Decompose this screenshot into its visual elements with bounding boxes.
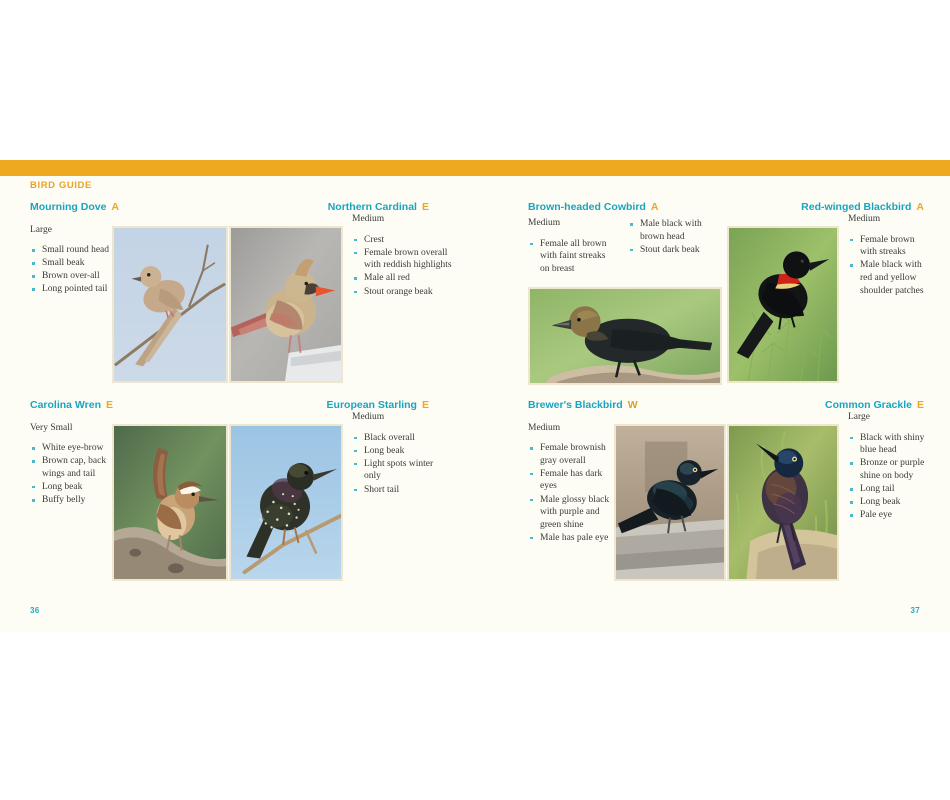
cowbird-text-col-1: Medium Female all brown with faint strea… xyxy=(528,218,616,276)
list-item: Long tail xyxy=(848,483,926,496)
list-item: Female brownish gray overall xyxy=(528,442,618,467)
trait-list-common-grackle: Black with shiny blue head Bronze or pur… xyxy=(848,432,926,522)
book-spread: BIRD GUIDE Mourning DoveA Large Small ro… xyxy=(0,160,950,632)
photo-european-starling xyxy=(229,424,343,581)
species-size: Medium xyxy=(528,218,616,230)
photo-northern-cardinal xyxy=(229,226,343,383)
list-item: Stout orange beak xyxy=(352,286,452,299)
cowbird-text-col-2: Male black with brown head Stout dark be… xyxy=(628,218,718,257)
species-heading-red-winged-blackbird: Red-winged BlackbirdA xyxy=(801,202,924,213)
list-item: Small round head xyxy=(30,244,110,257)
photo-mourning-dove xyxy=(112,226,228,383)
entry-brown-headed-cowbird[interactable]: Brown-headed CowbirdA Medium Female all … xyxy=(528,202,728,213)
trait-list-cowbird-col1: Female all brown with faint streaks on b… xyxy=(528,238,616,276)
entry-carolina-wren[interactable]: Carolina WrenE Very Small White eye-brow… xyxy=(30,400,110,507)
species-code: W xyxy=(628,399,638,411)
species-heading-common-grackle: Common GrackleE xyxy=(825,400,924,411)
page-number-right: 37 xyxy=(911,606,921,615)
species-name: European Starling xyxy=(327,399,417,411)
species-heading-carolina-wren: Carolina WrenE xyxy=(30,400,110,411)
photo-common-grackle xyxy=(727,424,839,581)
list-item: Stout dark beak xyxy=(628,244,718,257)
species-code: E xyxy=(106,399,113,411)
list-item: Female all brown with faint streaks on b… xyxy=(528,238,616,276)
list-item: Male has pale eye xyxy=(528,532,618,545)
species-name: Brewer's Blackbird xyxy=(528,399,623,411)
entry-red-winged-blackbird[interactable]: Red-winged BlackbirdA Medium Female brow… xyxy=(848,202,926,298)
photo-brown-headed-cowbird xyxy=(528,287,722,385)
trait-list-cowbird-col2: Male black with brown head Stout dark be… xyxy=(628,218,718,256)
list-item: Small beak xyxy=(30,257,110,270)
species-code: A xyxy=(111,201,119,213)
photo-red-winged-blackbird xyxy=(727,226,839,383)
list-item: Long pointed tail xyxy=(30,283,110,296)
trait-list-northern-cardinal: Crest Female brown overall with reddish … xyxy=(352,234,452,298)
list-item: Long beak xyxy=(848,496,926,509)
trait-list-european-starling: Black overall Long beak Light spots wint… xyxy=(352,432,452,496)
page-left: Mourning DoveA Large Small round head Sm… xyxy=(0,160,475,632)
list-item: Male black with brown head xyxy=(628,218,718,243)
species-size: Large xyxy=(848,412,926,424)
species-heading-brown-headed-cowbird: Brown-headed CowbirdA xyxy=(528,202,728,213)
species-code: E xyxy=(422,201,429,213)
entry-european-starling[interactable]: European StarlingE Medium Black overall … xyxy=(352,400,452,497)
species-name: Carolina Wren xyxy=(30,399,101,411)
species-name: Brown-headed Cowbird xyxy=(528,201,646,213)
list-item: Male glossy black with purple and green … xyxy=(528,494,618,532)
trait-list-mourning-dove: Small round head Small beak Brown over-a… xyxy=(30,244,110,296)
list-item: White eye-brow xyxy=(30,442,110,455)
entry-mourning-dove[interactable]: Mourning DoveA Large Small round head Sm… xyxy=(30,202,110,297)
list-item: Female brown with streaks xyxy=(848,234,926,259)
photo-brewers-blackbird xyxy=(614,424,726,581)
list-item: Long beak xyxy=(352,445,452,458)
list-item: Brown over-all xyxy=(30,270,110,283)
page-right: Brown-headed CowbirdA Medium Female all … xyxy=(475,160,950,632)
trait-list-brewers-blackbird: Female brownish gray overall Female has … xyxy=(528,442,618,544)
species-size: Medium xyxy=(352,412,452,424)
species-name: Common Grackle xyxy=(825,399,912,411)
trait-list-red-winged-blackbird: Female brown with streaks Male black wit… xyxy=(848,234,926,297)
list-item: Brown cap, back wings and tail xyxy=(30,455,110,480)
species-size: Medium xyxy=(528,423,618,435)
entry-brewers-blackbird[interactable]: Brewer's BlackbirdW Medium Female browni… xyxy=(528,400,618,545)
species-heading-mourning-dove: Mourning DoveA xyxy=(30,202,110,213)
list-item: Crest xyxy=(352,234,452,247)
list-item: Female has dark eyes xyxy=(528,468,618,493)
photo-carolina-wren xyxy=(112,424,228,581)
species-heading-northern-cardinal: Northern CardinalE xyxy=(328,202,429,213)
trait-list-carolina-wren: White eye-brow Brown cap, back wings and… xyxy=(30,442,110,506)
species-size: Very Small xyxy=(30,423,110,435)
list-item: Pale eye xyxy=(848,509,926,522)
page-number-left: 36 xyxy=(30,606,40,615)
species-code: E xyxy=(422,399,429,411)
list-item: Bronze or purple shine on body xyxy=(848,457,926,482)
species-name: Mourning Dove xyxy=(30,201,106,213)
species-code: A xyxy=(651,201,659,213)
species-heading-brewers-blackbird: Brewer's BlackbirdW xyxy=(528,400,618,411)
list-item: Light spots winter only xyxy=(352,458,452,483)
list-item: Female brown overall with reddish highli… xyxy=(352,247,452,272)
species-code: A xyxy=(916,201,924,213)
entry-northern-cardinal[interactable]: Northern CardinalE Medium Crest Female b… xyxy=(352,202,452,299)
list-item: Long beak xyxy=(30,481,110,494)
list-item: Black overall xyxy=(352,432,452,445)
species-name: Northern Cardinal xyxy=(328,201,417,213)
entry-common-grackle[interactable]: Common GrackleE Large Black with shiny b… xyxy=(848,400,926,522)
list-item: Male all red xyxy=(352,272,452,285)
species-code: E xyxy=(917,399,924,411)
list-item: Male black with red and yellow shoulder … xyxy=(848,259,926,297)
species-name: Red-winged Blackbird xyxy=(801,201,911,213)
species-size: Medium xyxy=(848,214,926,226)
list-item: Buffy belly xyxy=(30,494,110,507)
species-size: Medium xyxy=(352,214,452,226)
list-item: Short tail xyxy=(352,484,452,497)
list-item: Black with shiny blue head xyxy=(848,432,926,457)
species-heading-european-starling: European StarlingE xyxy=(327,400,429,411)
species-size: Large xyxy=(30,225,110,237)
